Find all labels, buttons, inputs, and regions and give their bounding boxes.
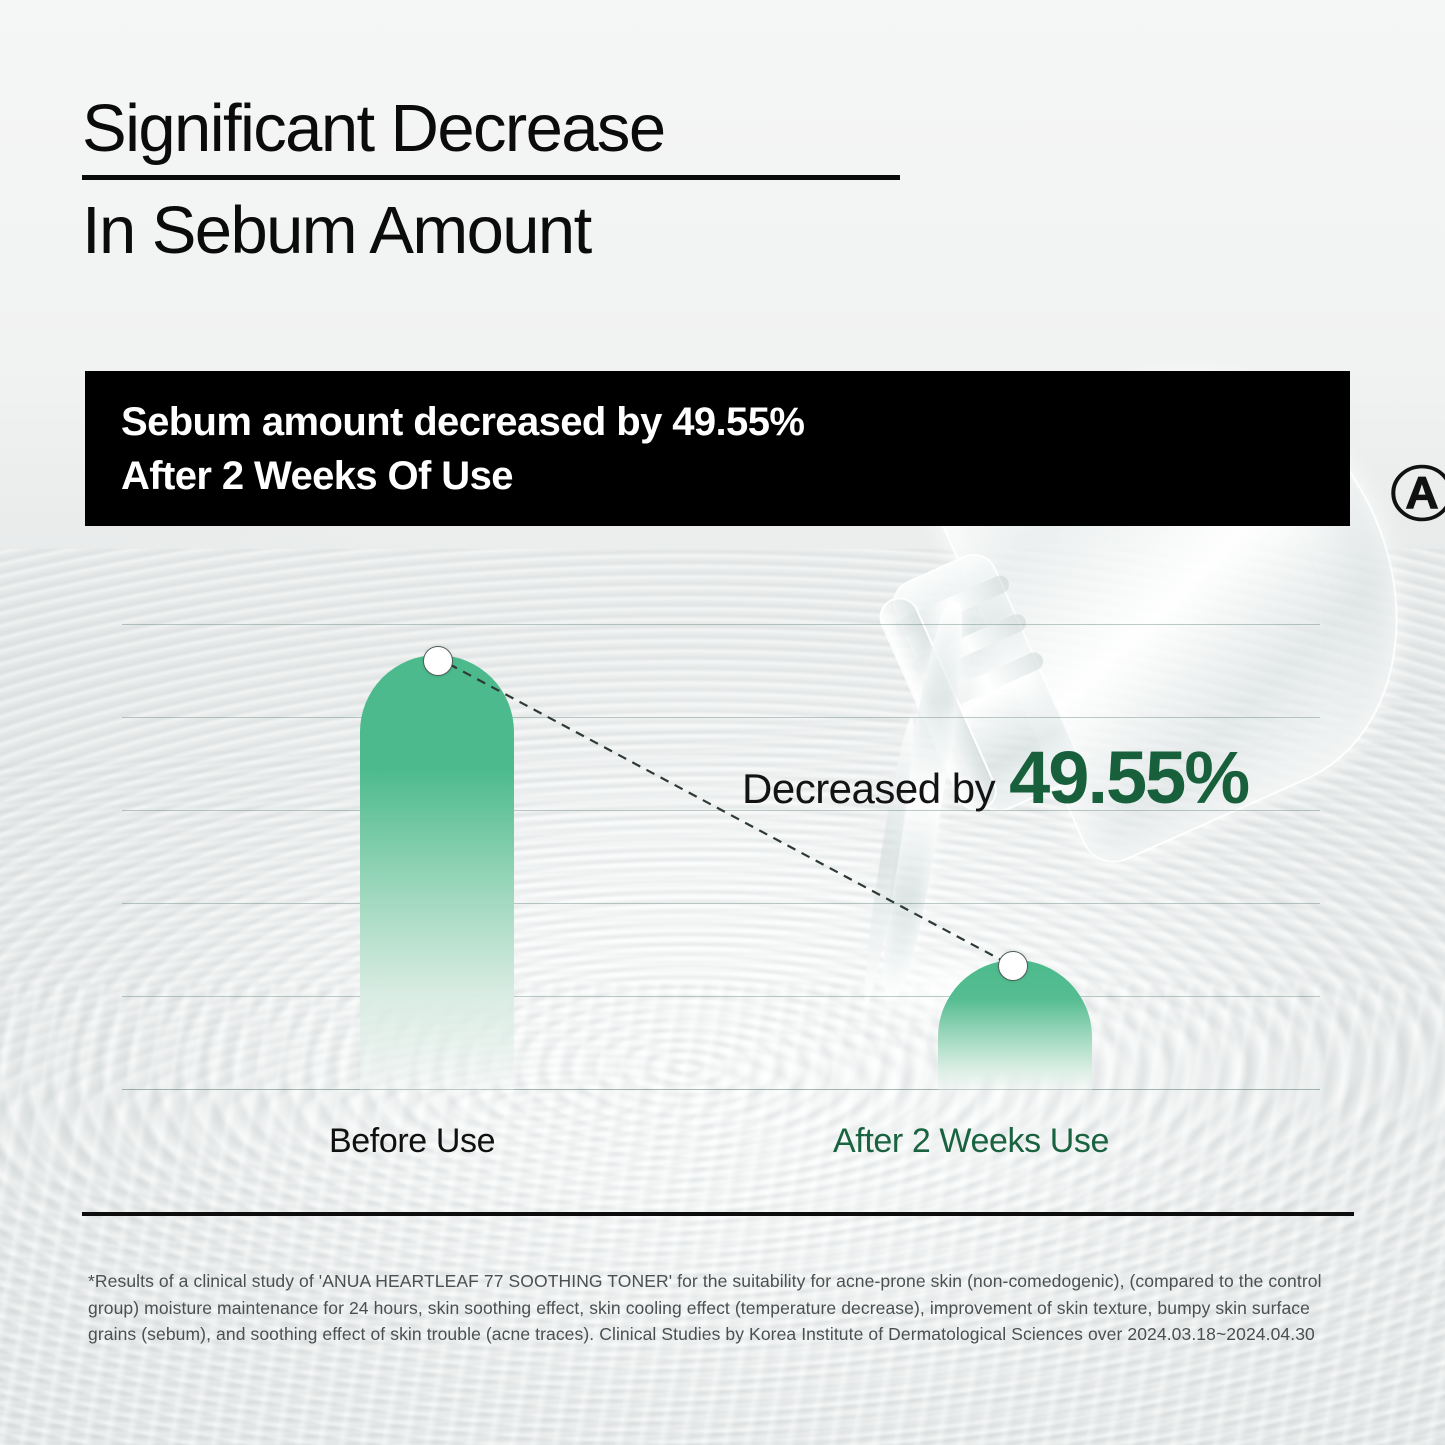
page-title-line2: In Sebum Amount	[82, 190, 591, 272]
headline-banner-line1: Sebum amount decreased by 49.55%	[121, 395, 1350, 449]
page-title-line1-text: Significant Decrease	[82, 88, 664, 170]
promo-infographic: Significant Decrease In Sebum Amount Seb…	[0, 0, 1445, 1445]
water-splash	[790, 930, 1130, 1080]
brand-logo-glyph: Ⓐ	[1390, 448, 1445, 532]
page-title-line1: Significant Decrease	[82, 88, 664, 170]
footer-divider	[82, 1212, 1354, 1216]
headline-banner: Sebum amount decreased by 49.55% After 2…	[85, 371, 1350, 526]
page-title-underline	[82, 175, 900, 180]
clinical-study-footnote: *Results of a clinical study of 'ANUA HE…	[88, 1268, 1328, 1348]
headline-banner-line2: After 2 Weeks Of Use	[121, 449, 1350, 503]
